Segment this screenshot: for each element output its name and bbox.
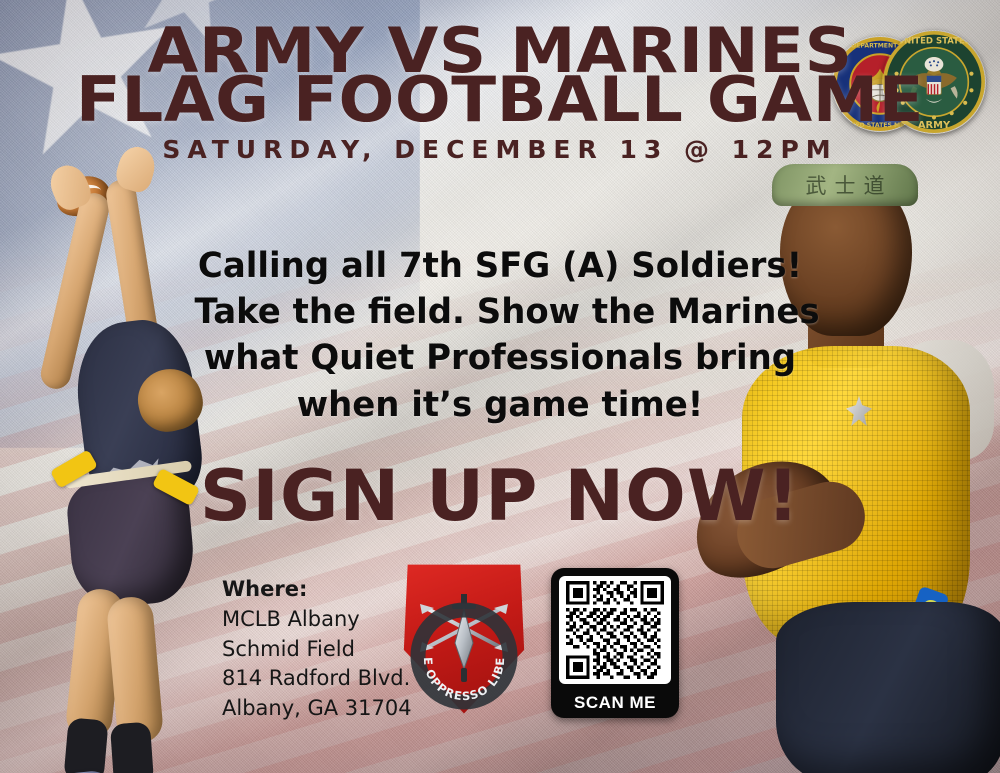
body-line-1: Calling all 7th SFG (A) Soldiers! xyxy=(194,243,805,289)
where-line-1: MCLB Albany xyxy=(222,605,412,635)
kanji-glyph: 武 xyxy=(806,170,827,200)
kanji-glyph: 士 xyxy=(835,170,856,200)
body-line-2: Take the field. Show the Marines xyxy=(194,289,805,335)
qr-code-image[interactable] xyxy=(559,576,671,684)
sign-up-call-to-action[interactable]: SIGN UP NOW! xyxy=(0,455,1000,537)
qr-scan-label: SCAN ME xyxy=(551,693,679,713)
where-line-2: Schmid Field xyxy=(222,635,412,665)
where-block: Where: MCLB Albany Schmid Field 814 Radf… xyxy=(222,575,412,724)
where-label: Where: xyxy=(222,575,412,605)
headline-line-2: FLAG FOOTBALL GAME xyxy=(0,73,1000,126)
where-line-3: 814 Radford Blvd. xyxy=(222,664,412,694)
player-right-shorts xyxy=(776,602,1000,773)
body-copy: Calling all 7th SFG (A) Soldiers! Take t… xyxy=(194,243,805,428)
special-forces-patch-icon: DE OPPRESSO LIBER xyxy=(400,560,528,715)
kanji-glyph: 道 xyxy=(864,170,885,200)
player-left-sock xyxy=(63,717,108,773)
qr-code-block[interactable]: SCAN ME xyxy=(551,568,679,718)
headband-kanji-icon: 武 士 道 xyxy=(782,166,908,204)
body-line-3: what Quiet Professionals bring xyxy=(194,335,805,381)
where-line-4: Albany, GA 31704 xyxy=(222,694,412,724)
flyer-canvas: 武 士 道 DEPARTMENT OF xyxy=(0,0,1000,773)
body-line-4: when it’s game time! xyxy=(194,382,805,428)
headline-block: ARMY VS MARINES FLAG FOOTBALL GAME SATUR… xyxy=(0,24,1000,164)
event-date: SATURDAY, DECEMBER 13 @ 12PM xyxy=(0,135,1000,164)
player-left-sock xyxy=(110,722,154,773)
